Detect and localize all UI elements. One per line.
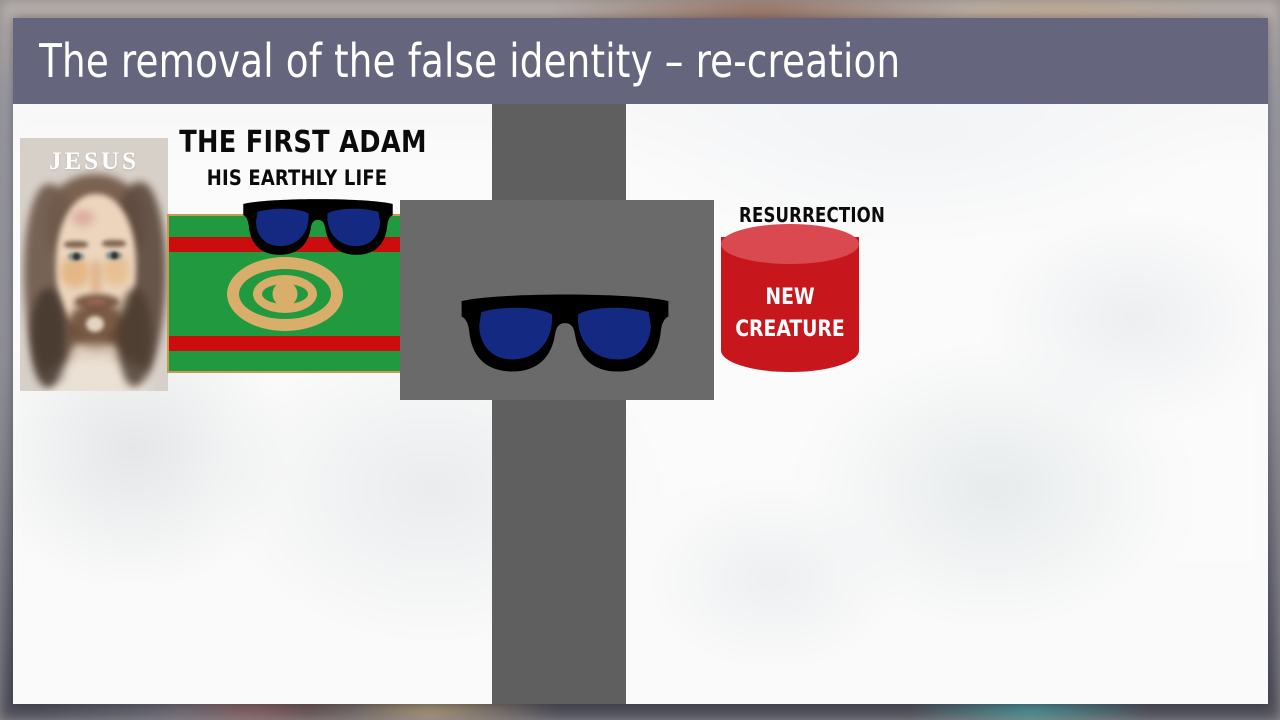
presentation-slide: The removal of the false identity – re-c… bbox=[13, 18, 1268, 704]
cross-vertical-beam bbox=[492, 104, 626, 704]
new-creature-cylinder: NEW CREATURE bbox=[721, 224, 859, 379]
first-adam-heading: THE FIRST ADAM bbox=[179, 125, 415, 160]
cylinder-label-line1: NEW bbox=[724, 282, 855, 314]
cylinder-label: NEW CREATURE bbox=[724, 282, 855, 346]
cylinder-top-ellipse bbox=[721, 224, 859, 264]
jesus-label: JESUS bbox=[20, 148, 168, 176]
sunglasses-small-icon bbox=[237, 196, 399, 258]
eye-emblem-pupil bbox=[273, 281, 298, 306]
slide-title-bar: The removal of the false identity – re-c… bbox=[13, 18, 1268, 104]
earthly-life-subheading: HIS EARTHLY LIFE bbox=[179, 166, 415, 190]
green-box-stripe-bottom bbox=[169, 336, 401, 351]
eye-emblem-inner-ring bbox=[253, 275, 317, 313]
jesus-portrait-card: JESUS bbox=[20, 138, 168, 391]
slide-stage: The removal of the false identity – re-c… bbox=[0, 0, 1280, 720]
slide-title: The removal of the false identity – re-c… bbox=[13, 34, 900, 88]
eye-emblem-icon bbox=[227, 257, 343, 331]
cylinder-label-line2: CREATURE bbox=[724, 314, 855, 346]
sunglasses-large-icon bbox=[455, 290, 675, 376]
